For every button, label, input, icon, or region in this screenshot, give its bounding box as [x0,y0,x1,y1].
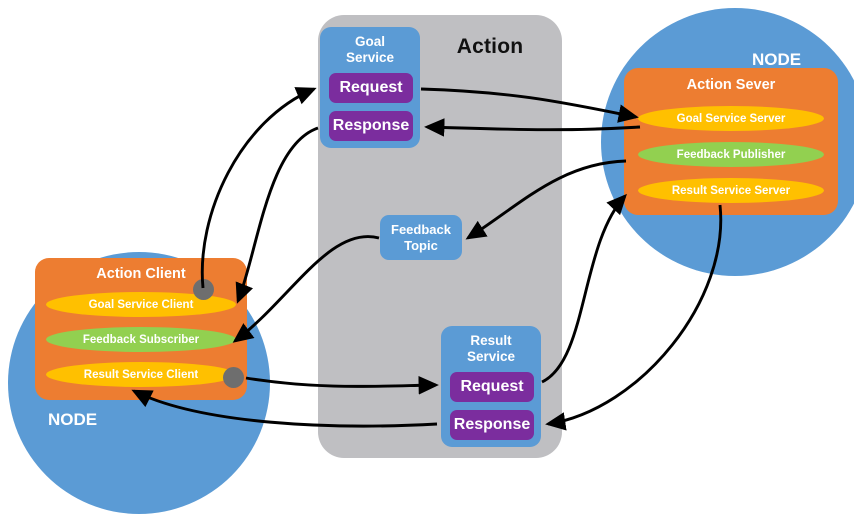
result-service-response[interactable]: Response [450,410,534,440]
entity-label: Feedback Publisher [677,149,786,161]
entity-label: Result Service Server [672,185,790,197]
action-server-panel: Action Sever Goal Service Server Feedbac… [624,68,838,215]
goal-client-connector-dot [193,279,214,300]
server-node-label: NODE [752,50,801,70]
entity-label: Goal Service Server [677,113,786,125]
goal-service-request[interactable]: Request [329,73,413,103]
action-client-title: Action Client [35,266,247,282]
goal-service-title-line2: Service [320,50,420,66]
arrow-goal-response-to-client [238,128,318,301]
result-service-title-line1: Result [441,333,541,349]
feedback-topic-line1: Feedback [391,222,451,238]
entity-feedback-publisher[interactable]: Feedback Publisher [638,142,824,167]
entity-label: Result Service Client [84,369,198,381]
action-client-panel: Action Client Goal Service Client Feedba… [35,258,247,400]
goal-service-response[interactable]: Response [329,111,413,141]
entity-result-service-server[interactable]: Result Service Server [638,178,824,203]
result-service-request[interactable]: Request [450,372,534,402]
feedback-topic-box[interactable]: Feedback Topic [380,215,462,260]
client-node-label: NODE [48,410,97,430]
result-service-title-line2: Service [441,349,541,365]
entity-feedback-subscriber[interactable]: Feedback Subscriber [46,327,236,352]
goal-service-title-line1: Goal [320,34,420,50]
feedback-topic-line2: Topic [404,238,438,254]
entity-label: Feedback Subscriber [83,334,199,346]
result-service-box: Result Service Request Response [441,326,541,447]
entity-goal-service-server[interactable]: Goal Service Server [638,106,824,131]
action-panel-title: Action [430,35,550,59]
entity-result-service-client[interactable]: Result Service Client [46,362,236,387]
action-server-title: Action Sever [624,77,838,93]
action-architecture-diagram: Action NODE NODE Action Sever Goal Servi… [0,0,854,480]
entity-label: Goal Service Client [89,299,194,311]
goal-service-box: Goal Service Request Response [320,27,420,148]
result-client-connector-dot [223,367,244,388]
